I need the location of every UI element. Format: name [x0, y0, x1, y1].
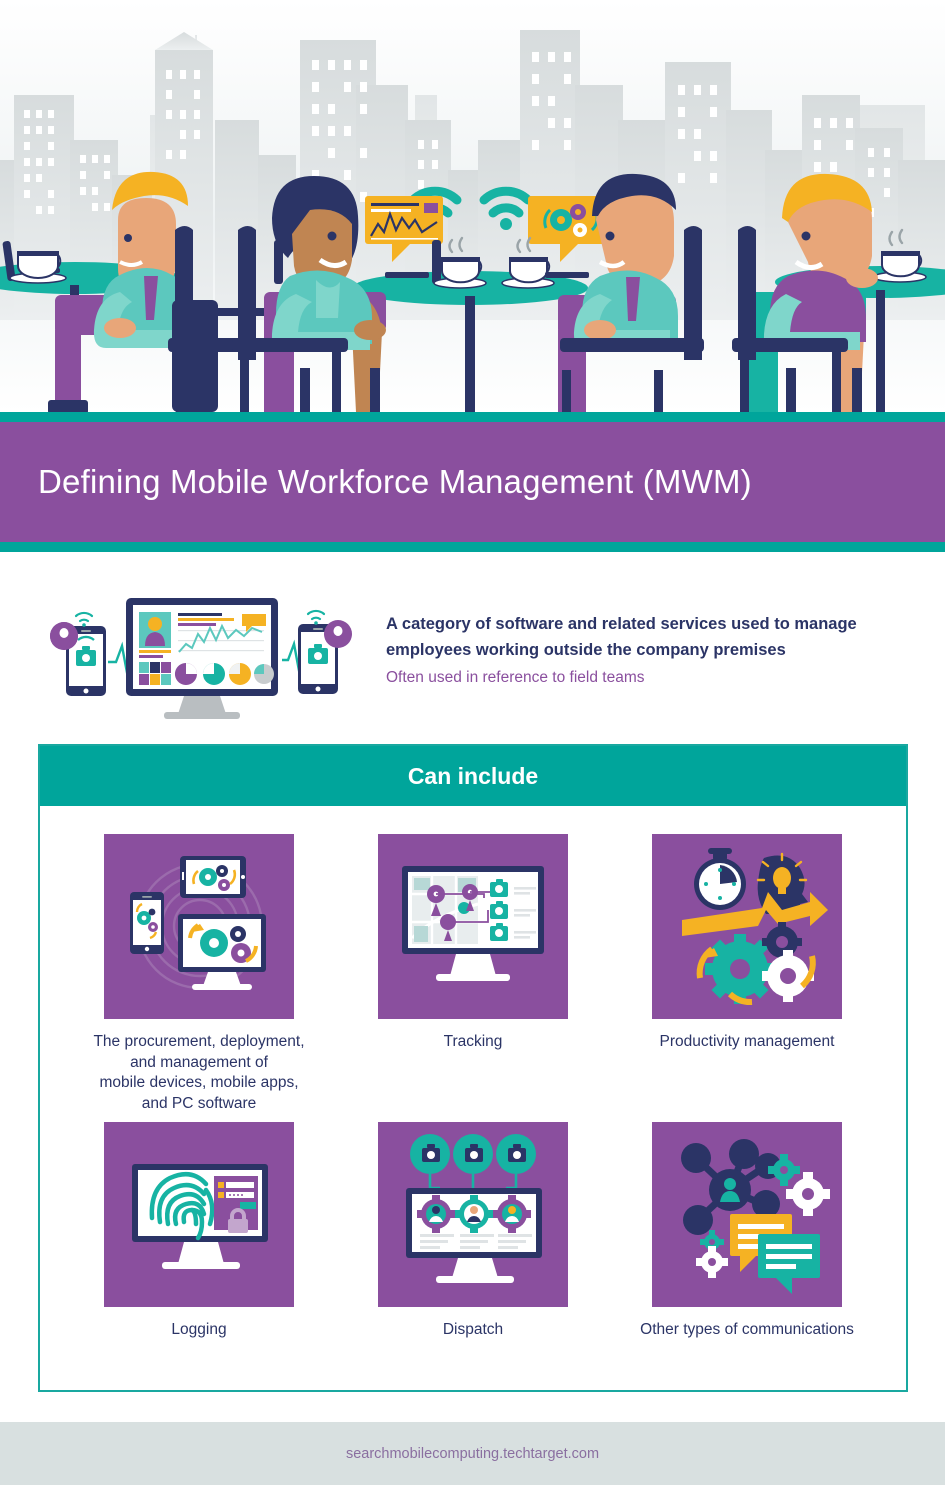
- list-item-label: The procurement, deployment, and managem…: [93, 1032, 304, 1114]
- footer-url-link[interactable]: searchmobilecomputing.techtarget.com: [346, 1446, 599, 1462]
- wifi-small-right-icon: [308, 611, 324, 619]
- title-banner: Defining Mobile Workforce Management (MW…: [0, 422, 945, 542]
- list-item[interactable]: Tracking: [336, 834, 610, 1114]
- hero-scene: [0, 0, 945, 412]
- list-item[interactable]: Other types of communications: [610, 1122, 884, 1341]
- teal-rule-top: [0, 412, 945, 422]
- map-location-tracking-icon: [378, 834, 568, 1019]
- can-include-header: Can include: [40, 746, 906, 806]
- list-item-label: Other types of communications: [640, 1320, 854, 1341]
- definition-illustration: [46, 594, 356, 729]
- list-item-label: Dispatch: [443, 1320, 503, 1341]
- coffee-cup-icon: [10, 252, 66, 283]
- definition-sub-text: Often used in reference to field teams: [386, 666, 916, 689]
- list-item[interactable]: Dispatch: [336, 1122, 610, 1341]
- list-item[interactable]: Productivity management: [610, 834, 884, 1114]
- network-chat-bubbles-icon: [652, 1122, 842, 1307]
- fingerprint-login-lock-icon: [104, 1122, 294, 1307]
- can-include-title: Can include: [408, 763, 538, 790]
- definition-section: A category of software and related servi…: [0, 552, 945, 729]
- dispatch-workers-icon: [378, 1122, 568, 1307]
- wifi-dot-right: [500, 218, 512, 230]
- can-include-grid: The procurement, deployment, and managem…: [40, 806, 906, 1341]
- list-item-label: Logging: [171, 1320, 226, 1341]
- definition-main-text: A category of software and related servi…: [386, 612, 916, 663]
- chat-bubble-teal: [758, 1234, 820, 1294]
- list-item[interactable]: The procurement, deployment, and managem…: [62, 834, 336, 1114]
- location-pin-right-icon: [324, 620, 352, 648]
- desktop-monitor-dashboard-icon: [126, 598, 278, 719]
- list-item-label: Productivity management: [660, 1032, 835, 1053]
- devices-gears-sync-icon: [104, 834, 294, 1019]
- list-item-label: Tracking: [444, 1032, 503, 1053]
- hero-illustration: [0, 0, 945, 412]
- footer: searchmobilecomputing.techtarget.com: [0, 1422, 945, 1485]
- definition-text: A category of software and related servi…: [386, 594, 916, 689]
- stopwatch-gears-arrow-icon: [652, 834, 842, 1019]
- page-title: Defining Mobile Workforce Management (MW…: [38, 463, 752, 501]
- location-pin-left-icon: [50, 622, 78, 650]
- can-include-panel: Can include: [38, 744, 908, 1392]
- wifi-small-left-icon: [76, 613, 92, 621]
- teal-rule-bottom: [0, 542, 945, 552]
- list-item[interactable]: Logging: [62, 1122, 336, 1341]
